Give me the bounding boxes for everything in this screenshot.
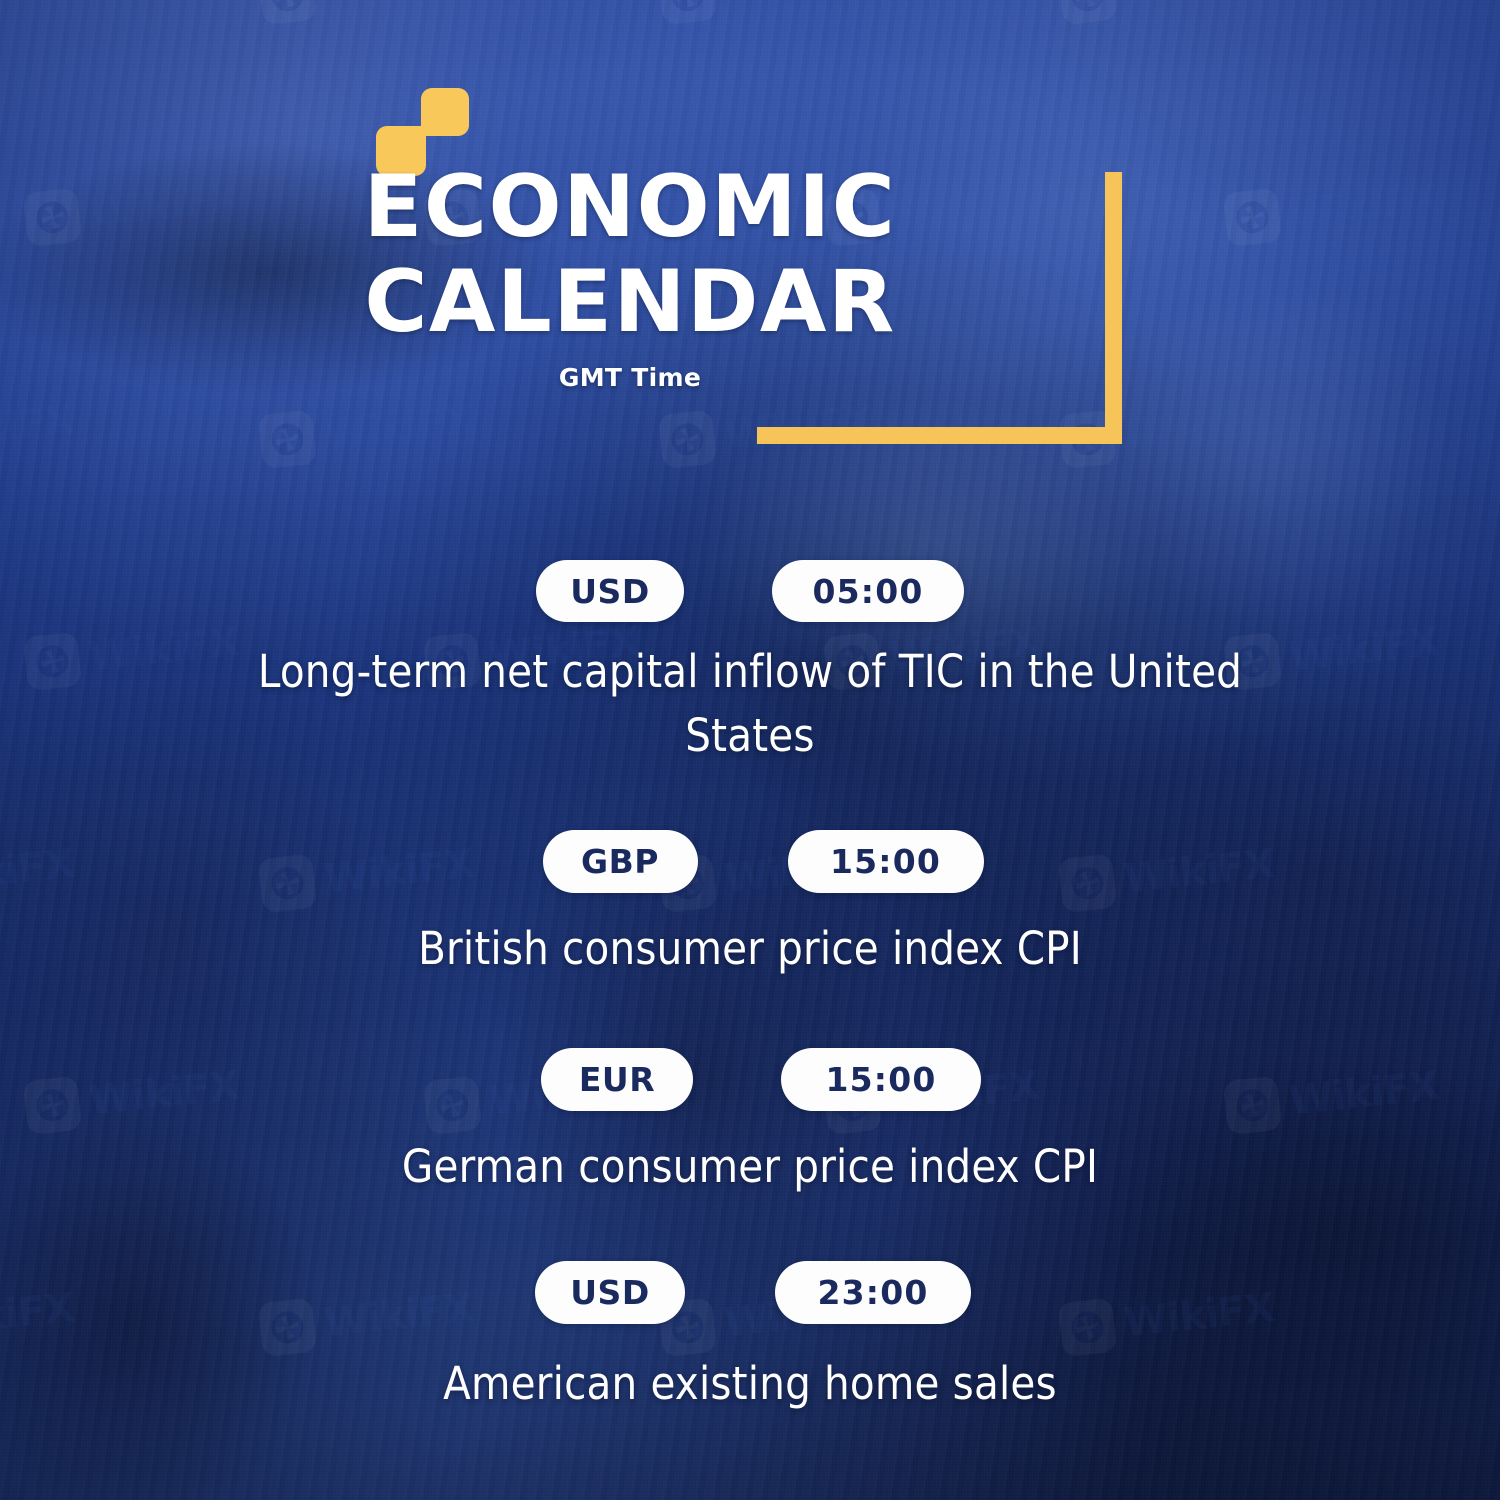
time-badge[interactable]: 23:00	[775, 1261, 971, 1324]
event-title: Long-term net capital inflow of TIC in t…	[0, 640, 1500, 768]
event-title: German consumer price index CPI	[0, 1135, 1500, 1199]
event-pill-group: USD 23:00	[0, 1261, 1500, 1324]
economic-calendar-poster: WikiFXWikiFXWikiFXWikiFXWikiFXWikiFXWiki…	[0, 0, 1500, 1500]
time-badge[interactable]: 05:00	[772, 560, 964, 622]
event-row: USD 05:00 Long-term net capital inflow o…	[0, 560, 1500, 830]
currency-badge[interactable]: USD	[535, 1261, 685, 1324]
corner-bracket-horizontal	[757, 427, 1122, 444]
currency-badge[interactable]: EUR	[541, 1048, 693, 1111]
event-pill-group: GBP 15:00	[0, 830, 1500, 893]
event-row: GBP 15:00 British consumer price index C…	[0, 830, 1500, 1048]
event-row: USD 23:00 American existing home sales	[0, 1261, 1500, 1461]
currency-badge[interactable]: GBP	[543, 830, 698, 893]
logo-square-top	[421, 88, 469, 136]
time-badge[interactable]: 15:00	[788, 830, 984, 893]
corner-bracket-vertical	[1105, 172, 1122, 444]
event-title: American existing home sales	[0, 1352, 1500, 1416]
event-row: EUR 15:00 German consumer price index CP…	[0, 1048, 1500, 1261]
page-title: ECONOMIC CALENDAR GMT Time	[170, 160, 1090, 392]
time-badge[interactable]: 15:00	[781, 1048, 981, 1111]
poster-header: ECONOMIC CALENDAR GMT Time	[0, 0, 1500, 470]
subtitle-gmt-time: GMT Time	[170, 363, 1090, 392]
currency-badge[interactable]: USD	[536, 560, 684, 622]
event-list: USD 05:00 Long-term net capital inflow o…	[0, 560, 1500, 1461]
event-pill-group: EUR 15:00	[0, 1048, 1500, 1111]
title-line-1: ECONOMIC	[170, 160, 1090, 255]
event-pill-group: USD 05:00	[0, 560, 1500, 622]
title-line-2: CALENDAR	[170, 255, 1090, 350]
event-title: British consumer price index CPI	[0, 917, 1500, 981]
